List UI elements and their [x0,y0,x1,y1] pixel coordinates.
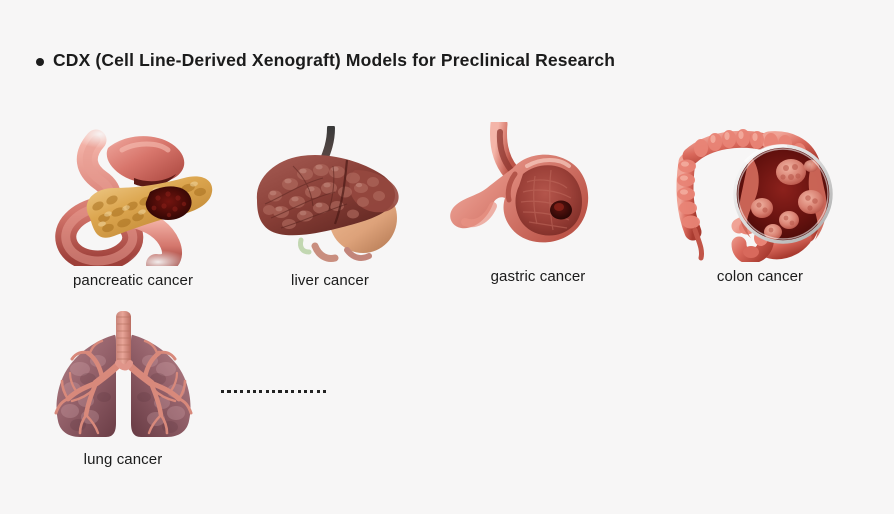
continuation-dot [272,390,275,393]
continuation-dots [221,390,326,393]
organ-card-liver: liver cancer [235,126,425,289]
bullet-dot-icon [36,58,44,66]
continuation-dot [247,390,250,393]
stomach-tumor-icon [443,122,633,262]
organ-label-gastric: gastric cancer [443,268,633,285]
page-title-row: CDX (Cell Line-Derived Xenograft) Models… [36,50,615,71]
continuation-dot [285,390,288,393]
continuation-dot [304,390,307,393]
continuation-dot [278,390,281,393]
organ-card-gastric: gastric cancer [443,122,633,285]
organ-label-pancreatic: pancreatic cancer [38,272,228,289]
continuation-dot [266,390,269,393]
continuation-dot [323,390,326,393]
continuation-dot [317,390,320,393]
organ-label-lung: lung cancer [28,451,218,468]
organ-card-lung: lung cancer [28,305,218,468]
continuation-dot [234,390,237,393]
organ-label-liver: liver cancer [235,272,425,289]
organ-label-colon: colon cancer [665,268,855,285]
slide-canvas: CDX (Cell Line-Derived Xenograft) Models… [0,0,894,514]
continuation-dot [298,390,301,393]
continuation-dot [310,390,313,393]
pancreas-tumor-icon [38,126,228,266]
continuation-dot [240,390,243,393]
continuation-dot [227,390,230,393]
continuation-dot [221,390,224,393]
organ-card-pancreatic: pancreatic cancer [38,126,228,289]
cirrhotic-liver-icon [235,126,425,266]
organ-card-colon: colon cancer [665,122,855,285]
colon-polyps-magnifier-icon [665,122,855,262]
page-title: CDX (Cell Line-Derived Xenograft) Models… [53,50,615,71]
continuation-dot [253,390,256,393]
lungs-icon [28,305,218,445]
continuation-dot [291,390,294,393]
continuation-dot [259,390,262,393]
